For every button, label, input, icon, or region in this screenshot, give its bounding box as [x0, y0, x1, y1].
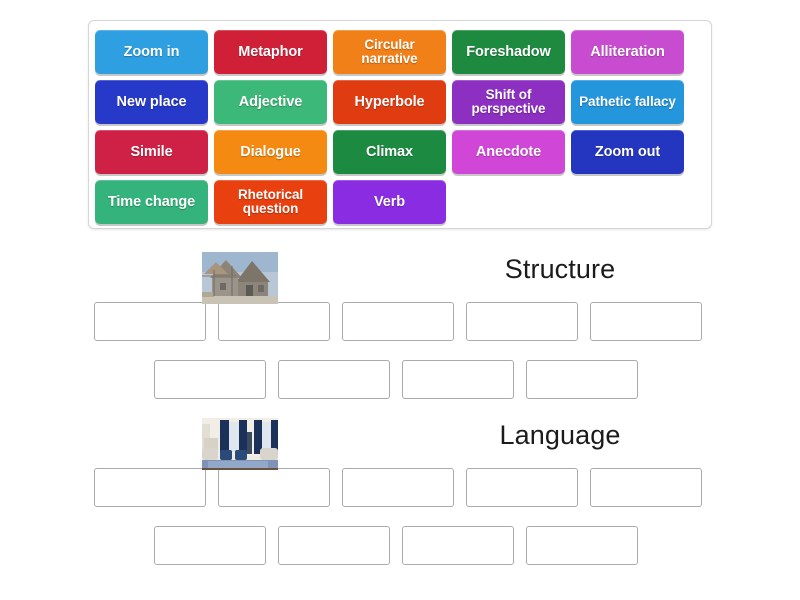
dropzone-structure-a-5[interactable]: [590, 302, 702, 341]
tile-shift-of-perspective[interactable]: Shift of perspective: [452, 80, 565, 124]
word-tile-tray: Zoom inMetaphorCircular narrativeForesha…: [88, 20, 712, 229]
dropzone-language-a-4[interactable]: [466, 468, 578, 507]
dropzone-structure-a-1[interactable]: [94, 302, 206, 341]
tile-simile[interactable]: Simile: [95, 130, 208, 174]
tile-foreshadow[interactable]: Foreshadow: [452, 30, 565, 74]
dropzone-language-b-1[interactable]: [154, 526, 266, 565]
dropzone-structure-a-2[interactable]: [218, 302, 330, 341]
dropzone-row-structure-a: [0, 302, 800, 350]
dropzone-language-a-2[interactable]: [218, 468, 330, 507]
tile-metaphor[interactable]: Metaphor: [214, 30, 327, 74]
house-under-construction-thumbnail: [202, 252, 278, 304]
tile-adjective[interactable]: Adjective: [214, 80, 327, 124]
dropzone-structure-b-3[interactable]: [402, 360, 514, 399]
tile-row-4: Time changeRhetorical questionVerb: [95, 177, 705, 227]
drop-section-structure: Structure: [0, 244, 800, 408]
tile-anecdote[interactable]: Anecdote: [452, 130, 565, 174]
tile-row-3: SimileDialogueClimaxAnecdoteZoom out: [95, 127, 705, 177]
dropzone-structure-b-2[interactable]: [278, 360, 390, 399]
dropzone-language-b-4[interactable]: [526, 526, 638, 565]
tile-zoom-out[interactable]: Zoom out: [571, 130, 684, 174]
tile-rhetorical-question[interactable]: Rhetorical question: [214, 180, 327, 224]
tile-hyperbole[interactable]: Hyperbole: [333, 80, 446, 124]
dropzone-language-a-3[interactable]: [342, 468, 454, 507]
dropzone-language-b-2[interactable]: [278, 526, 390, 565]
dropzone-structure-b-1[interactable]: [154, 360, 266, 399]
dropzone-row-language-a: [0, 468, 800, 516]
tile-row-2: New placeAdjectiveHyperboleShift of pers…: [95, 77, 705, 127]
tile-pathetic-fallacy[interactable]: Pathetic fallacy: [571, 80, 684, 124]
dropzone-language-b-3[interactable]: [402, 526, 514, 565]
tile-climax[interactable]: Climax: [333, 130, 446, 174]
dropzone-structure-b-4[interactable]: [526, 360, 638, 399]
dropzone-structure-a-3[interactable]: [342, 302, 454, 341]
tile-time-change[interactable]: Time change: [95, 180, 208, 224]
tile-dialogue[interactable]: Dialogue: [214, 130, 327, 174]
tile-row-1: Zoom inMetaphorCircular narrativeForesha…: [95, 27, 705, 77]
tile-zoom-in[interactable]: Zoom in: [95, 30, 208, 74]
blue-living-room-interior-thumbnail: [202, 418, 278, 470]
section-header-structure: Structure: [0, 244, 800, 302]
dropzone-row-structure-b: [0, 360, 800, 408]
tile-verb[interactable]: Verb: [333, 180, 446, 224]
tile-circular-narrative[interactable]: Circular narrative: [333, 30, 446, 74]
drop-section-language: Language: [0, 410, 800, 574]
dropzone-row-language-b: [0, 526, 800, 574]
section-title-structure: Structure: [420, 254, 700, 285]
tile-alliteration[interactable]: Alliteration: [571, 30, 684, 74]
dropzone-language-a-5[interactable]: [590, 468, 702, 507]
dropzone-structure-a-4[interactable]: [466, 302, 578, 341]
dropzone-language-a-1[interactable]: [94, 468, 206, 507]
section-header-language: Language: [0, 410, 800, 468]
tile-new-place[interactable]: New place: [95, 80, 208, 124]
section-title-language: Language: [420, 420, 700, 451]
